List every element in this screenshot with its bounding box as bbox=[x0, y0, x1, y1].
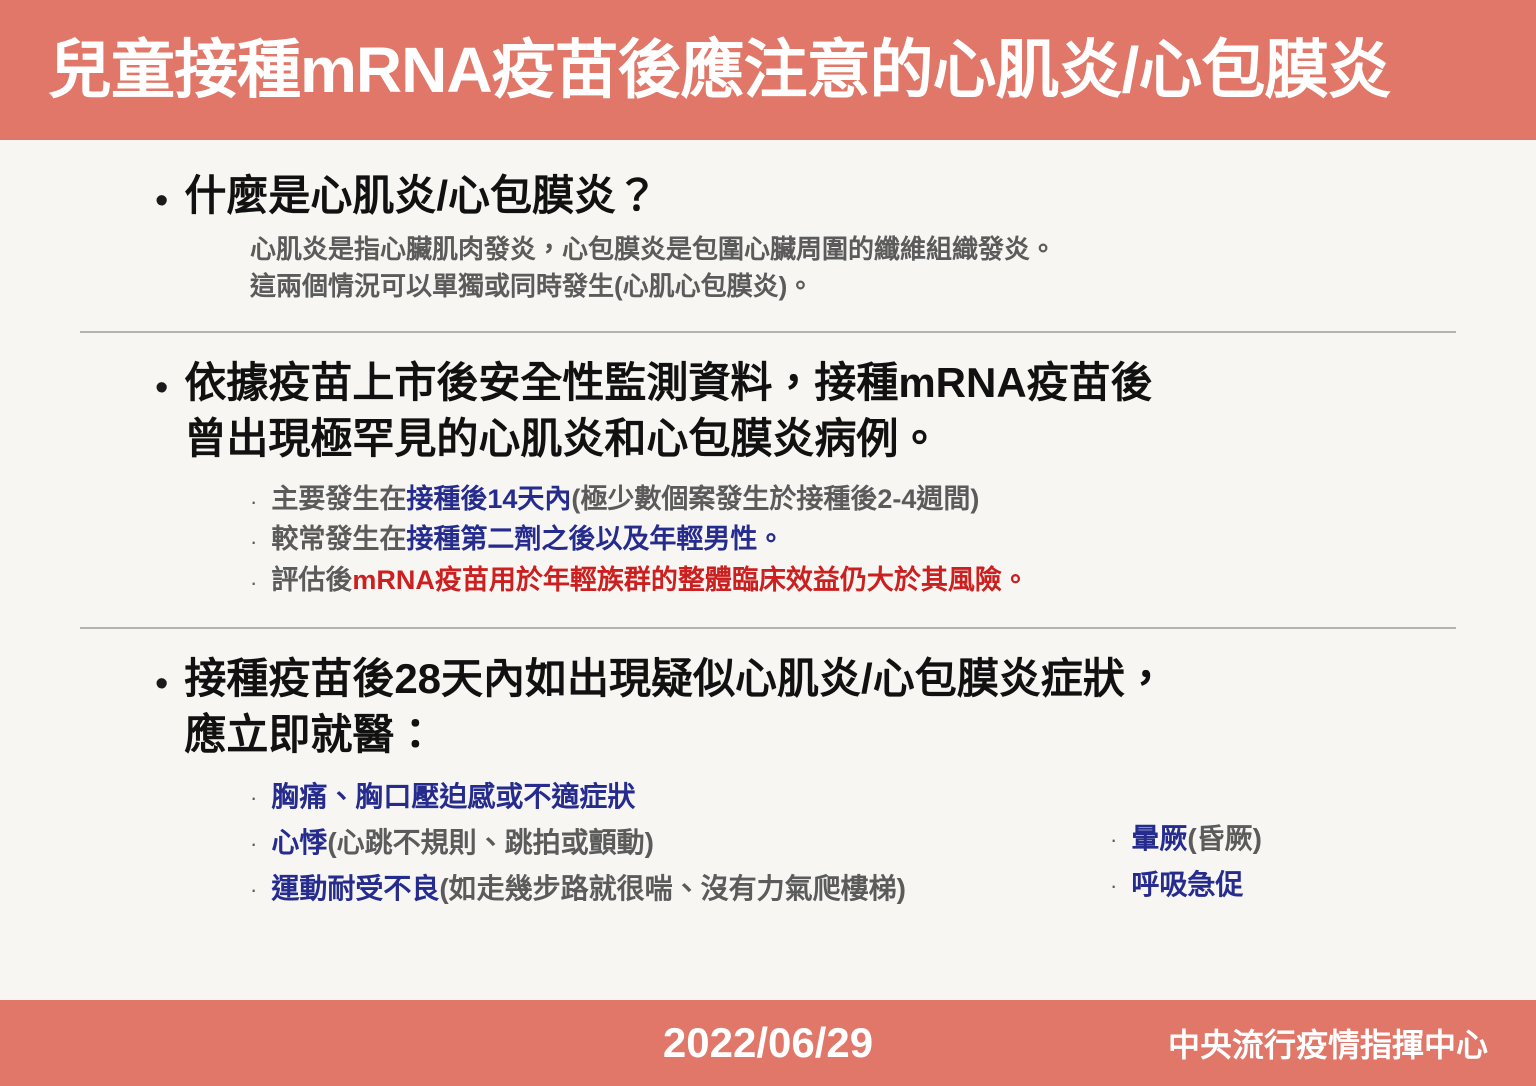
section-1-body: 心肌炎是指心臟肌肉發炎，心包膜炎是包圍心臟周圍的纖維組織發炎。 這兩個情況可以單… bbox=[250, 231, 1476, 305]
text-run-emphasis: 接種後14天內 bbox=[406, 484, 571, 514]
list-item: · 心悸(心跳不規則、跳拍或顫動) bbox=[250, 822, 1080, 864]
main-content: • 什麼是心肌炎/心包膜炎？ 心肌炎是指心臟肌肉發炎，心包膜炎是包圍心臟周圍的纖… bbox=[0, 140, 1536, 1000]
section-1-heading: • 什麼是心肌炎/心包膜炎？ bbox=[155, 168, 1476, 223]
text-run-emphasis: 胸痛、胸口壓迫感或不適症狀 bbox=[271, 781, 635, 812]
list-item-text: 胸痛、胸口壓迫感或不適症狀 bbox=[271, 776, 635, 818]
sub-bullet-dot-icon: · bbox=[1110, 829, 1117, 851]
list-item-text: 主要發生在接種後14天內(極少數個案發生於接種後2-4週間) bbox=[271, 480, 979, 518]
list-item: · 運動耐受不良(如走幾步路就很喘、沒有力氣爬樓梯) bbox=[250, 868, 1080, 910]
sub-bullet-dot-icon: · bbox=[250, 572, 257, 594]
section-3-title-line-2: 應立即就醫： bbox=[184, 711, 436, 758]
list-item-text: 心悸(心跳不規則、跳拍或顫動) bbox=[271, 822, 654, 864]
text-run: 主要發生在 bbox=[271, 484, 406, 514]
text-run: 評估後 bbox=[271, 565, 352, 595]
section-3-heading: • 接種疫苗後28天內如出現疑似心肌炎/心包膜炎症狀， 應立即就醫： bbox=[155, 651, 1476, 762]
list-item: · 評估後mRNA疫苗用於年輕族群的整體臨床效益仍大於其風險。 bbox=[250, 561, 1476, 599]
section-3-title: 接種疫苗後28天內如出現疑似心肌炎/心包膜炎症狀， 應立即就醫： bbox=[184, 651, 1166, 762]
list-item: · 較常發生在接種第二劑之後以及年輕男性。 bbox=[250, 520, 1476, 558]
text-run-emphasis: 心悸 bbox=[271, 827, 327, 858]
text-run-warning: mRNA疫苗用於年輕族群的整體臨床效益仍大於其風險。 bbox=[352, 565, 1029, 595]
page-title: 兒童接種mRNA疫苗後應注意的心肌炎/心包膜炎 bbox=[48, 38, 1390, 102]
sub-bullet-dot-icon: · bbox=[1110, 875, 1117, 897]
section-2-heading: • 依據疫苗上市後安全性監測資料，接種mRNA疫苗後 曾出現極罕見的心肌炎和心包… bbox=[155, 355, 1476, 466]
section-1-title: 什麼是心肌炎/心包膜炎？ bbox=[184, 168, 658, 223]
list-item-text: 較常發生在接種第二劑之後以及年輕男性。 bbox=[271, 520, 784, 558]
list-item-text: 呼吸急促 bbox=[1131, 864, 1243, 906]
section-1-body-line-1: 心肌炎是指心臟肌肉發炎，心包膜炎是包圍心臟周圍的纖維組織發炎。 bbox=[250, 231, 1476, 268]
section-2-title: 依據疫苗上市後安全性監測資料，接種mRNA疫苗後 曾出現極罕見的心肌炎和心包膜炎… bbox=[184, 355, 1152, 466]
sub-bullet-dot-icon: · bbox=[250, 787, 257, 809]
sub-bullet-dot-icon: · bbox=[250, 531, 257, 553]
text-run-emphasis: 暈厥 bbox=[1131, 823, 1187, 854]
text-run: (昏厥) bbox=[1187, 823, 1262, 854]
section-1-body-line-2: 這兩個情況可以單獨或同時發生(心肌心包膜炎)。 bbox=[250, 268, 1476, 305]
section-symptoms: • 接種疫苗後28天內如出現疑似心肌炎/心包膜炎症狀， 應立即就醫： · 胸痛、… bbox=[0, 651, 1536, 914]
section-2-title-line-2: 曾出現極罕見的心肌炎和心包膜炎病例。 bbox=[184, 415, 940, 462]
list-item-text: 運動耐受不良(如走幾步路就很喘、沒有力氣爬樓梯) bbox=[271, 868, 906, 910]
sub-bullet-dot-icon: · bbox=[250, 491, 257, 513]
bullet-dot-icon: • bbox=[155, 182, 168, 220]
section-2-title-line-1: 依據疫苗上市後安全性監測資料，接種mRNA疫苗後 bbox=[184, 359, 1152, 406]
list-item: · 胸痛、胸口壓迫感或不適症狀 bbox=[250, 776, 1080, 818]
text-run-emphasis: 呼吸急促 bbox=[1131, 869, 1243, 900]
text-run: (如走幾步路就很喘、沒有力氣爬樓梯) bbox=[439, 873, 906, 904]
sub-bullet-dot-icon: · bbox=[250, 833, 257, 855]
bullet-dot-icon: • bbox=[155, 369, 168, 407]
footer-banner: 2022/06/29 中央流行疫情指揮中心 bbox=[0, 1000, 1536, 1086]
text-run-emphasis: 運動耐受不良 bbox=[271, 873, 439, 904]
text-run: 較常發生在 bbox=[271, 524, 406, 554]
symptom-column-right: · 暈厥(昏厥) · 呼吸急促 bbox=[1080, 776, 1476, 914]
header-banner: 兒童接種mRNA疫苗後應注意的心肌炎/心包膜炎 bbox=[0, 0, 1536, 140]
symptom-columns: · 胸痛、胸口壓迫感或不適症狀 · 心悸(心跳不規則、跳拍或顫動) · 運動耐受… bbox=[250, 776, 1476, 914]
list-item: · 主要發生在接種後14天內(極少數個案發生於接種後2-4週間) bbox=[250, 480, 1476, 518]
list-item: · 呼吸急促 bbox=[1110, 864, 1476, 906]
symptom-column-left: · 胸痛、胸口壓迫感或不適症狀 · 心悸(心跳不規則、跳拍或顫動) · 運動耐受… bbox=[250, 776, 1080, 914]
footer-organization: 中央流行疫情指揮中心 bbox=[1168, 1020, 1488, 1066]
section-2-bullet-list: · 主要發生在接種後14天內(極少數個案發生於接種後2-4週間) · 較常發生在… bbox=[250, 480, 1476, 599]
section-what-is-myocarditis: • 什麼是心肌炎/心包膜炎？ 心肌炎是指心臟肌肉發炎，心包膜炎是包圍心臟周圍的纖… bbox=[0, 168, 1536, 305]
section-3-title-line-1: 接種疫苗後28天內如出現疑似心肌炎/心包膜炎症狀， bbox=[184, 655, 1166, 702]
sub-bullet-dot-icon: · bbox=[250, 879, 257, 901]
section-safety-monitoring: • 依據疫苗上市後安全性監測資料，接種mRNA疫苗後 曾出現極罕見的心肌炎和心包… bbox=[0, 355, 1536, 599]
bullet-dot-icon: • bbox=[155, 665, 168, 703]
text-run-emphasis: 接種第二劑之後以及年輕男性。 bbox=[406, 524, 784, 554]
list-item-text: 暈厥(昏厥) bbox=[1131, 818, 1262, 860]
list-item: · 暈厥(昏厥) bbox=[1110, 818, 1476, 860]
text-run: (極少數個案發生於接種後2-4週間) bbox=[571, 484, 979, 514]
text-run: (心跳不規則、跳拍或顫動) bbox=[327, 827, 654, 858]
list-item-text: 評估後mRNA疫苗用於年輕族群的整體臨床效益仍大於其風險。 bbox=[271, 561, 1029, 599]
